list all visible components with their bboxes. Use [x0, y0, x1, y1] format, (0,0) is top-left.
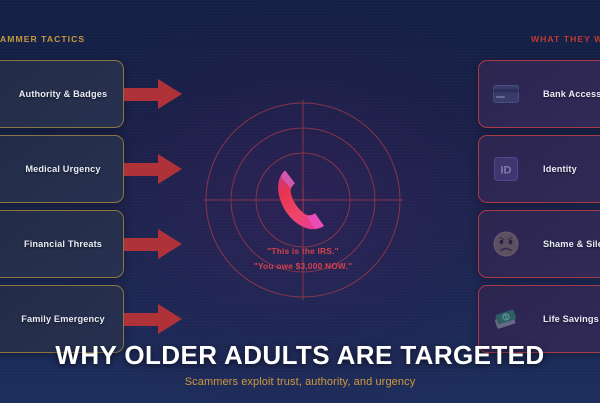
- page-subtitle: Scammers exploit trust, authority, and u…: [0, 376, 600, 388]
- tactic-card-medical-urgency[interactable]: Medical Urgency: [0, 135, 124, 203]
- want-card-shame-silence[interactable]: Shame & Silence: [478, 210, 600, 278]
- arrow-shaft: [124, 163, 160, 176]
- infographic-canvas: SCAMMER TACTICS WHAT THEY WANT Authority…: [0, 0, 600, 403]
- arrow-head: [158, 304, 182, 334]
- want-card-label: Identity: [543, 164, 577, 174]
- want-card-label: Shame & Silence: [543, 239, 600, 249]
- tactic-card-label: Medical Urgency: [0, 164, 101, 174]
- phone-call-icon: [268, 168, 338, 234]
- money-cash-icon: [491, 304, 521, 334]
- column-header-scammer-tactics: SCAMMER TACTICS: [0, 34, 85, 44]
- arrow-head: [158, 79, 182, 109]
- want-card-label: Life Savings: [543, 314, 599, 324]
- arrow-right-icon: [124, 154, 182, 184]
- tactic-card-financial-threats[interactable]: Financial Threats: [0, 210, 124, 278]
- credit-card-icon: [491, 79, 521, 109]
- want-card-label: Bank Access: [543, 89, 600, 99]
- tactic-card-label: Family Emergency: [0, 314, 105, 324]
- tactic-card-authority-badges[interactable]: Authority & Badges: [0, 60, 124, 128]
- arrow-shaft: [124, 313, 160, 326]
- page-title: WHY OLDER ADULTS ARE TARGETED: [0, 340, 600, 371]
- arrow-head: [158, 154, 182, 184]
- id-badge-icon: ID: [491, 154, 521, 184]
- scam-quote-line: "You owe $3,000 NOW.": [153, 261, 453, 271]
- tactic-card-label: Financial Threats: [0, 239, 102, 249]
- want-card-identity[interactable]: ID Identity: [478, 135, 600, 203]
- arrow-shaft: [124, 88, 160, 101]
- worried-face-icon: [491, 229, 521, 259]
- column-header-what-they-want: WHAT THEY WANT: [531, 34, 600, 44]
- arrow-right-icon: [124, 304, 182, 334]
- scam-quote-line: "This is the IRS.": [153, 246, 453, 256]
- arrow-right-icon: [124, 79, 182, 109]
- want-card-bank-access[interactable]: Bank Access: [478, 60, 600, 128]
- svg-text:ID: ID: [501, 165, 512, 177]
- tactic-card-label: Authority & Badges: [0, 89, 107, 99]
